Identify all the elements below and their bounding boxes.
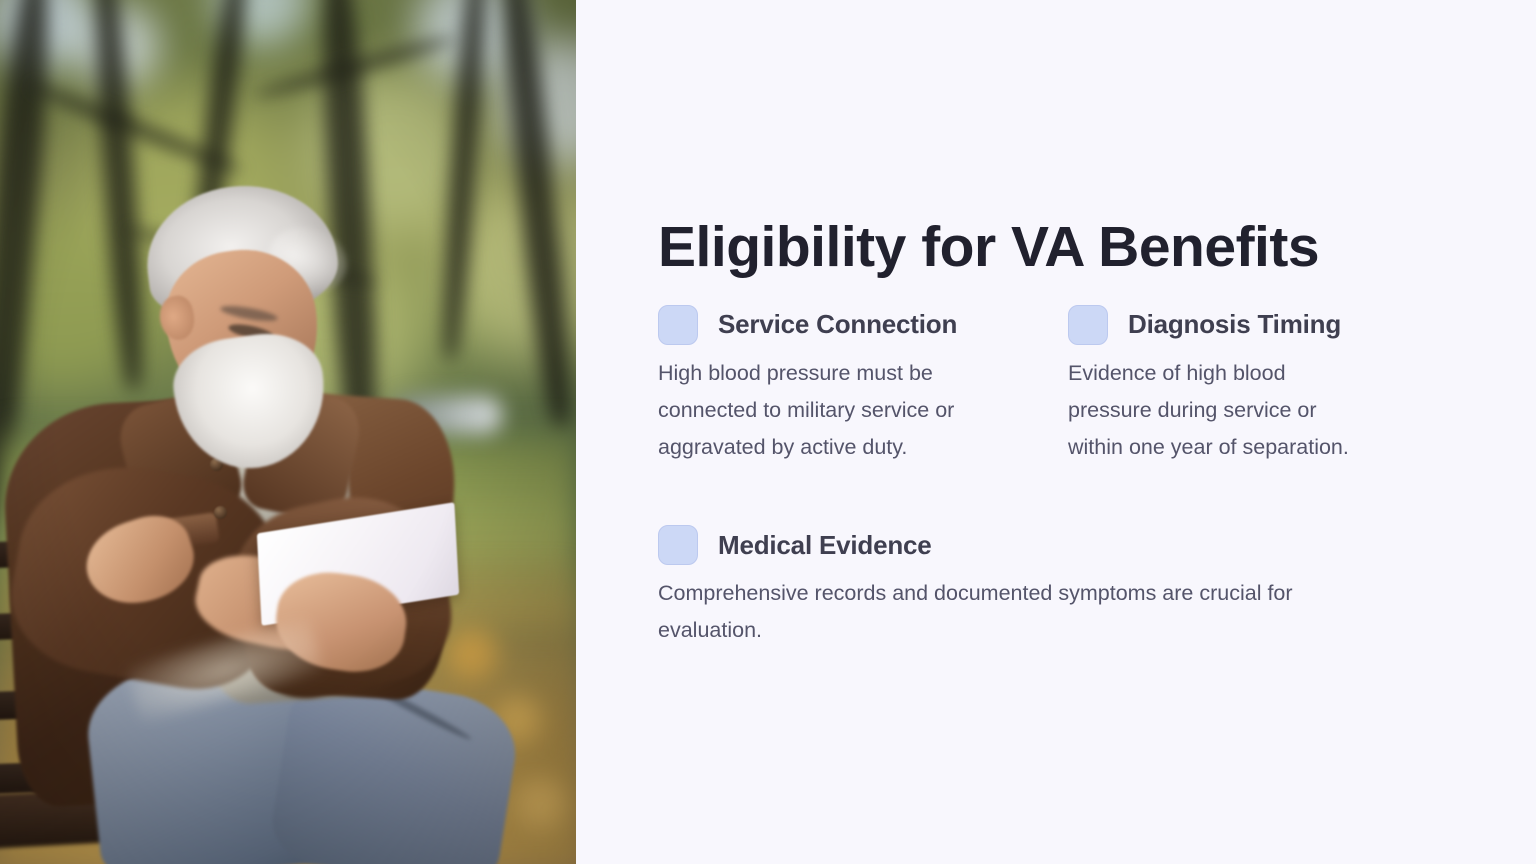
content-panel: Eligibility for VA Benefits Service Conn… — [576, 0, 1536, 864]
rounded-square-icon — [658, 525, 698, 565]
hero-photo — [0, 0, 576, 864]
feature-title: Diagnosis Timing — [1128, 309, 1341, 340]
feature-description: High blood pressure must be connected to… — [658, 355, 988, 466]
page-title: Eligibility for VA Benefits — [658, 216, 1319, 279]
feature-title: Medical Evidence — [718, 530, 932, 561]
slide: Eligibility for VA Benefits Service Conn… — [0, 0, 1536, 864]
feature-header: Service Connection — [658, 305, 1068, 345]
feature-diagnosis-timing: Diagnosis Timing Evidence of high blood … — [1068, 305, 1458, 487]
feature-medical-evidence: Medical Evidence Comprehensive records a… — [658, 525, 1458, 670]
feature-description: Comprehensive records and documented sym… — [658, 575, 1398, 649]
feature-header: Medical Evidence — [658, 525, 1458, 565]
feature-row-top: Service Connection High blood pressure m… — [658, 305, 1458, 487]
feature-title: Service Connection — [718, 309, 957, 340]
feature-row-bottom: Medical Evidence Comprehensive records a… — [658, 525, 1458, 670]
feature-header: Diagnosis Timing — [1068, 305, 1458, 345]
rounded-square-icon — [1068, 305, 1108, 345]
feature-description: Evidence of high blood pressure during s… — [1068, 355, 1368, 466]
feature-service-connection: Service Connection High blood pressure m… — [658, 305, 1068, 487]
feature-list: Service Connection High blood pressure m… — [658, 305, 1458, 671]
photo-vignette — [0, 0, 576, 864]
rounded-square-icon — [658, 305, 698, 345]
